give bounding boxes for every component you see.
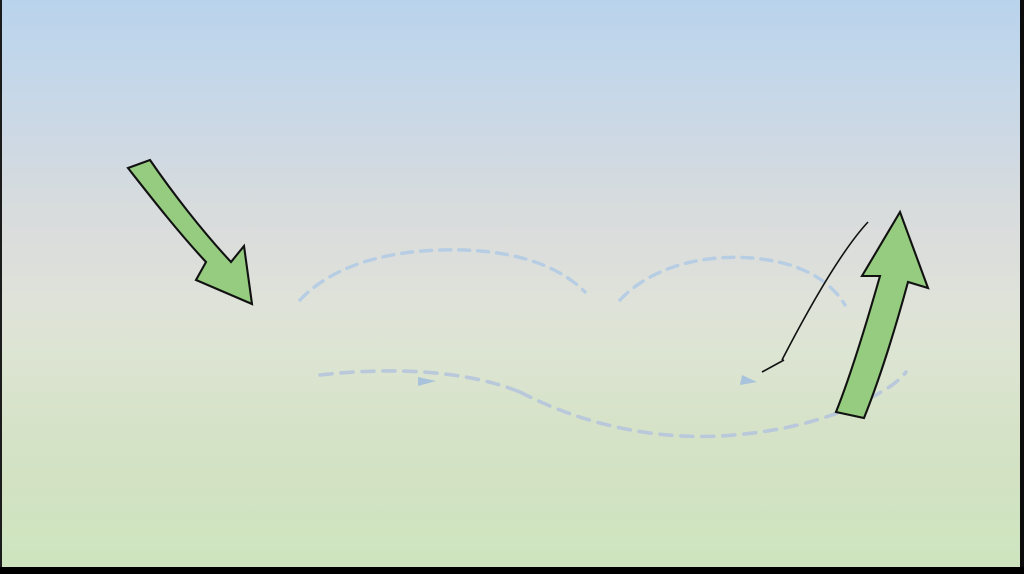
performance-metrics: [0, 88, 1024, 385]
figure-canvas: [0, 0, 1024, 574]
